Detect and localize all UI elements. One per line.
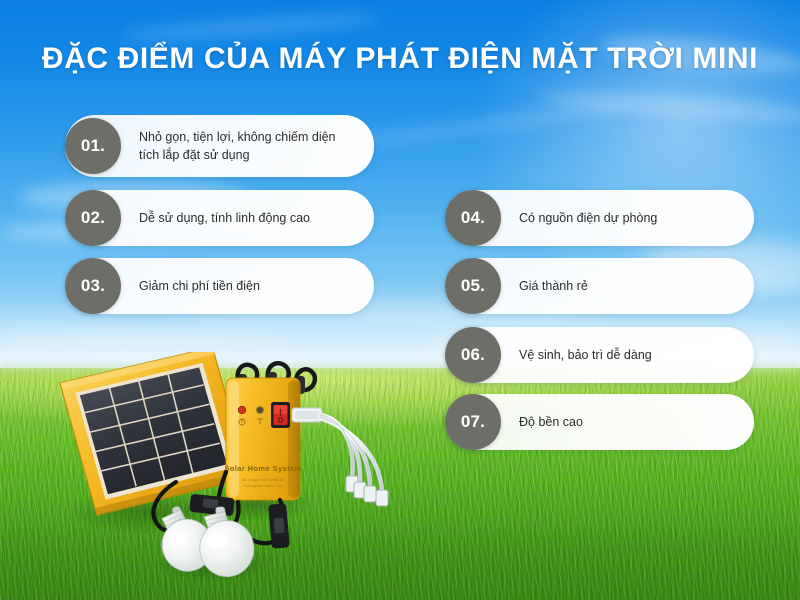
feature-number-badge: 05. <box>445 258 501 314</box>
feature-text: Độ bền cao <box>519 414 601 431</box>
product-brand-label: Solar Home System <box>224 464 301 473</box>
infographic-canvas: ĐẶC ĐIỂM CỦA MÁY PHÁT ĐIỆN MẶT TRỜI MINI… <box>0 0 800 600</box>
feature-number-badge: 01. <box>65 118 121 174</box>
feature-text: Có nguồn điện dự phòng <box>519 210 675 227</box>
feature-number-badge: 03. <box>65 258 121 314</box>
feature-text: Giá thành rẻ <box>519 278 606 295</box>
cloud-wisp <box>120 9 381 45</box>
feature-card-01[interactable]: 01. Nhỏ gọn, tiện lợi, không chiếm diện … <box>65 115 374 177</box>
feature-number-badge: 02. <box>65 190 121 246</box>
svg-text:Rechargeable Battery Pack: Rechargeable Battery Pack <box>244 484 283 488</box>
led-indicator-power <box>257 407 264 414</box>
feature-text: Dễ sử dụng, tính linh động cao <box>139 210 328 227</box>
feature-card-06[interactable]: 06. Vệ sinh, bảo trì dễ dàng <box>445 327 754 383</box>
power-switch <box>271 402 290 428</box>
feature-number-badge: 04. <box>445 190 501 246</box>
page-title: ĐẶC ĐIỂM CỦA MÁY PHÁT ĐIỆN MẶT TRỜI MINI <box>0 41 800 77</box>
feature-text: Giảm chi phí tiền điện <box>139 278 278 295</box>
control-box: Solar Home System DC Output 6V / USB 5V … <box>224 378 301 500</box>
inline-switch-right <box>268 503 290 548</box>
product-photo-solar-generator-kit: Solar Home System DC Output 6V / USB 5V … <box>40 352 420 600</box>
usb-charging-cables <box>292 408 388 506</box>
feature-text: Nhỏ gọn, tiện lợi, không chiếm diện tích… <box>139 128 374 164</box>
feature-card-03[interactable]: 03. Giảm chi phí tiền điện <box>65 258 374 314</box>
feature-text: Vệ sinh, bảo trì dễ dàng <box>519 347 670 364</box>
product-sub-label: DC Output 6V / USB 5V <box>242 478 285 482</box>
feature-card-02[interactable]: 02. Dễ sử dụng, tính linh động cao <box>65 190 374 246</box>
led-indicator-charge <box>238 406 245 413</box>
feature-card-07[interactable]: 07. Độ bền cao <box>445 394 754 450</box>
feature-number-badge: 06. <box>445 327 501 383</box>
feature-card-05[interactable]: 05. Giá thành rẻ <box>445 258 754 314</box>
feature-number-badge: 07. <box>445 394 501 450</box>
feature-card-04[interactable]: 04. Có nguồn điện dự phòng <box>445 190 754 246</box>
